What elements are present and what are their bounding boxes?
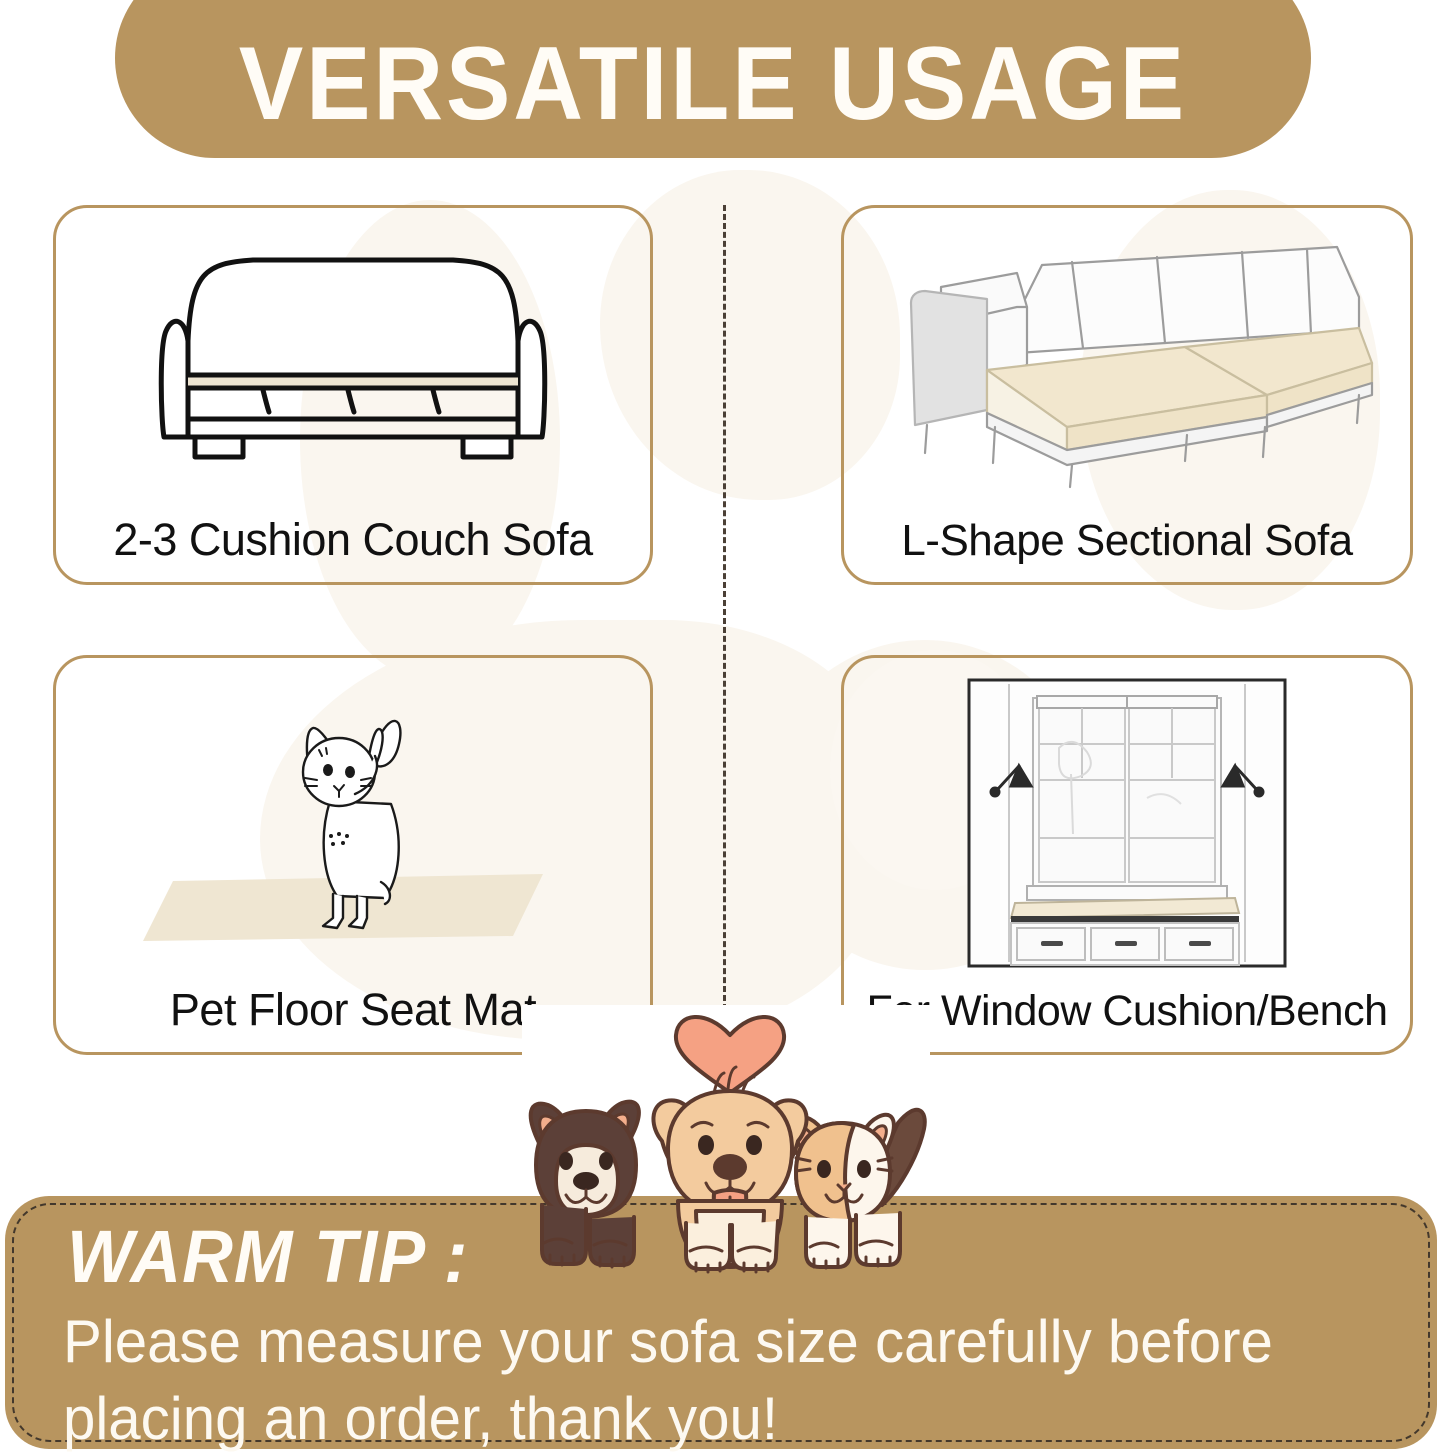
l-shape-sectional-sofa-icon (867, 235, 1387, 490)
couch-sofa-illustration (56, 208, 650, 514)
header-banner: VERSATILE USAGE (115, 0, 1311, 158)
usage-card-l-shape-sofa: L-Shape Sectional Sofa (841, 205, 1413, 585)
pets-group-icon (500, 1005, 960, 1305)
cat-on-mat-illustration (56, 658, 650, 984)
usage-card-label: Pet Floor Seat Mat (170, 984, 536, 1052)
versatile-usage-infographic: VERSATILE USAGE (0, 0, 1449, 1455)
window-bench-seat-icon (967, 678, 1287, 968)
page-title: VERSATILE USAGE (239, 32, 1187, 158)
window-bench-illustration (844, 658, 1410, 987)
couch-sofa-icon (133, 241, 573, 481)
cat-on-floor-mat-icon (123, 686, 583, 956)
three-pets-illustration (500, 1005, 960, 1305)
warm-tip-heading: WARM TIP : (67, 1214, 468, 1299)
usage-card-label: 2-3 Cushion Couch Sofa (113, 514, 592, 582)
usage-card-window-bench: For Window Cushion/Bench (841, 655, 1413, 1055)
vertical-dashed-divider (723, 205, 726, 1010)
usage-card-label: L-Shape Sectional Sofa (901, 516, 1352, 582)
french-bulldog-icon (531, 1102, 639, 1267)
l-shape-sofa-illustration (844, 208, 1410, 516)
usage-card-pet-floor-mat: Pet Floor Seat Mat (53, 655, 653, 1055)
usage-card-couch-sofa: 2-3 Cushion Couch Sofa (53, 205, 653, 585)
warm-tip-body-text: Please measure your sofa size carefully … (63, 1304, 1357, 1455)
